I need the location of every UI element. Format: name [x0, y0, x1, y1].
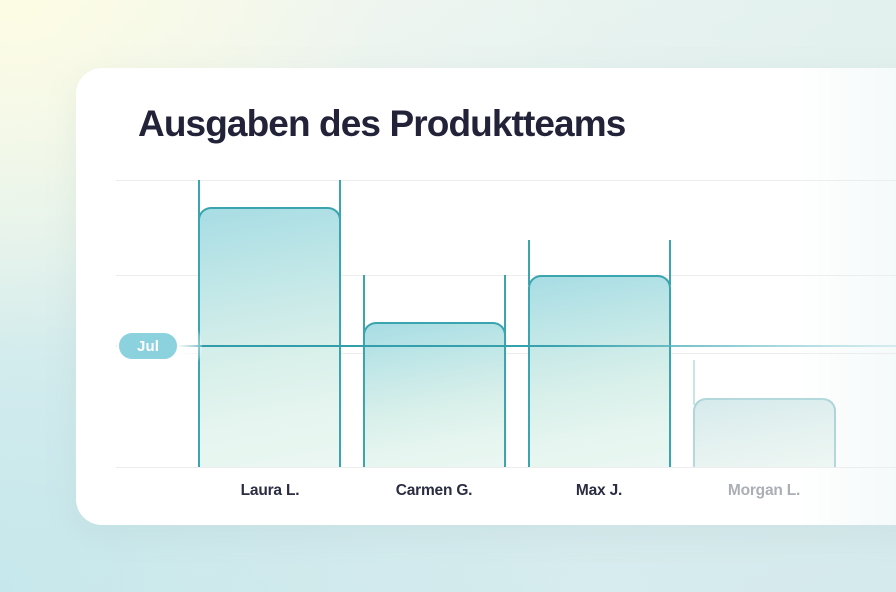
chart-page: Ausgaben des Produktteams Jul Laura L. C…: [0, 0, 896, 592]
page-title: Ausgaben des Produktteams: [138, 103, 625, 145]
x-axis-label-max-j: Max J.: [576, 482, 622, 500]
month-marker-pill[interactable]: Jul: [117, 331, 179, 361]
x-axis-label-carmen-g: Carmen G.: [396, 482, 473, 500]
card-right-fade: [796, 68, 896, 525]
month-marker[interactable]: Jul: [113, 328, 186, 364]
x-axis-label-morgan-l: Morgan L.: [728, 482, 800, 500]
x-axis-label-laura-l: Laura L.: [241, 482, 300, 500]
